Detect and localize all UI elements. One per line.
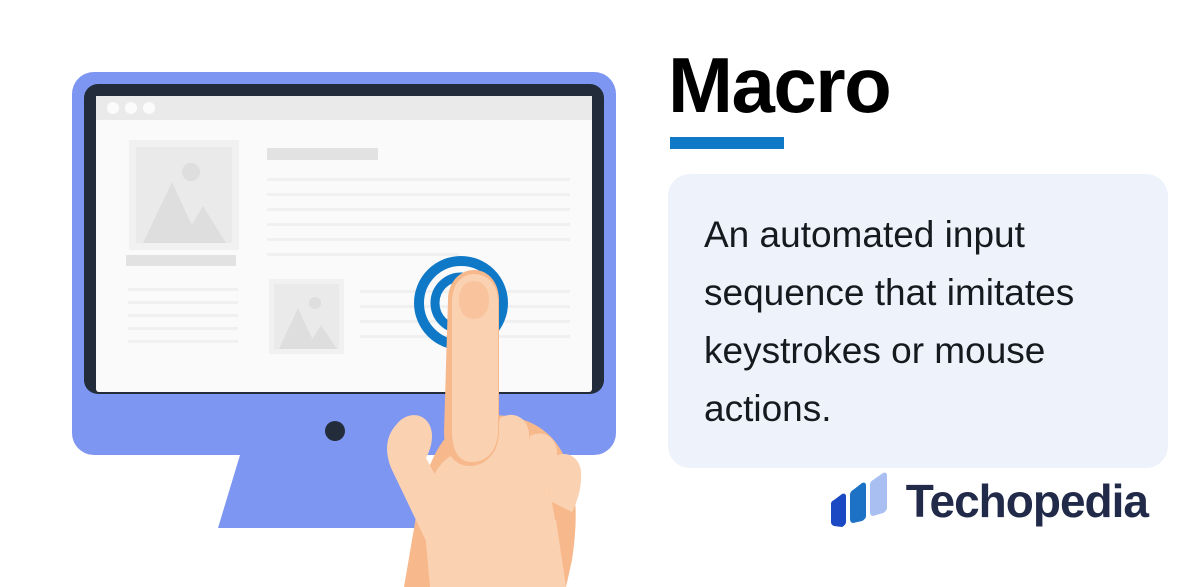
term-panel: Macro An automated input sequence that i…	[668, 0, 1180, 587]
browser-dot-2-icon	[125, 102, 137, 114]
text-line-right-3	[267, 208, 570, 211]
image-placeholder-small-sun-icon	[309, 297, 321, 309]
illustration-svg	[0, 0, 640, 587]
techopedia-wordmark: Techopedia	[906, 478, 1148, 524]
text-line-right-4	[267, 223, 570, 226]
hand-tapping-monitor-illustration	[0, 0, 640, 587]
text-line-left-2	[128, 301, 238, 304]
browser-toolbar	[96, 96, 592, 120]
power-dot-icon	[325, 421, 345, 441]
text-line-right-6	[267, 253, 459, 256]
text-line-left-3	[128, 314, 238, 317]
logo-shape-1	[831, 494, 846, 527]
text-line-left-5	[128, 340, 238, 343]
browser-dot-3-icon	[143, 102, 155, 114]
definition-text: An automated input sequence that imitate…	[704, 206, 1134, 438]
techopedia-logo[interactable]: Techopedia	[830, 470, 1148, 532]
heading-bar-right	[267, 148, 378, 160]
definition-card: An automated input sequence that imitate…	[668, 174, 1168, 468]
heading-bar-left	[126, 255, 236, 266]
text-line-left-1	[128, 288, 238, 291]
techopedia-parallelograms-icon	[830, 470, 892, 532]
image-placeholder-large-sun-icon	[182, 163, 200, 181]
text-line-right-5	[267, 238, 570, 241]
logo-shape-2	[850, 483, 866, 523]
text-line-right-2	[267, 193, 570, 196]
browser-dot-1-icon	[107, 102, 119, 114]
infographic-canvas: Macro An automated input sequence that i…	[0, 0, 1200, 587]
text-line-right-1	[267, 178, 570, 181]
index-fingernail	[459, 281, 489, 319]
text-line-left-4	[128, 327, 238, 330]
title-accent-rule	[670, 137, 784, 149]
page-title: Macro	[668, 46, 890, 124]
logo-shape-3	[870, 473, 887, 516]
